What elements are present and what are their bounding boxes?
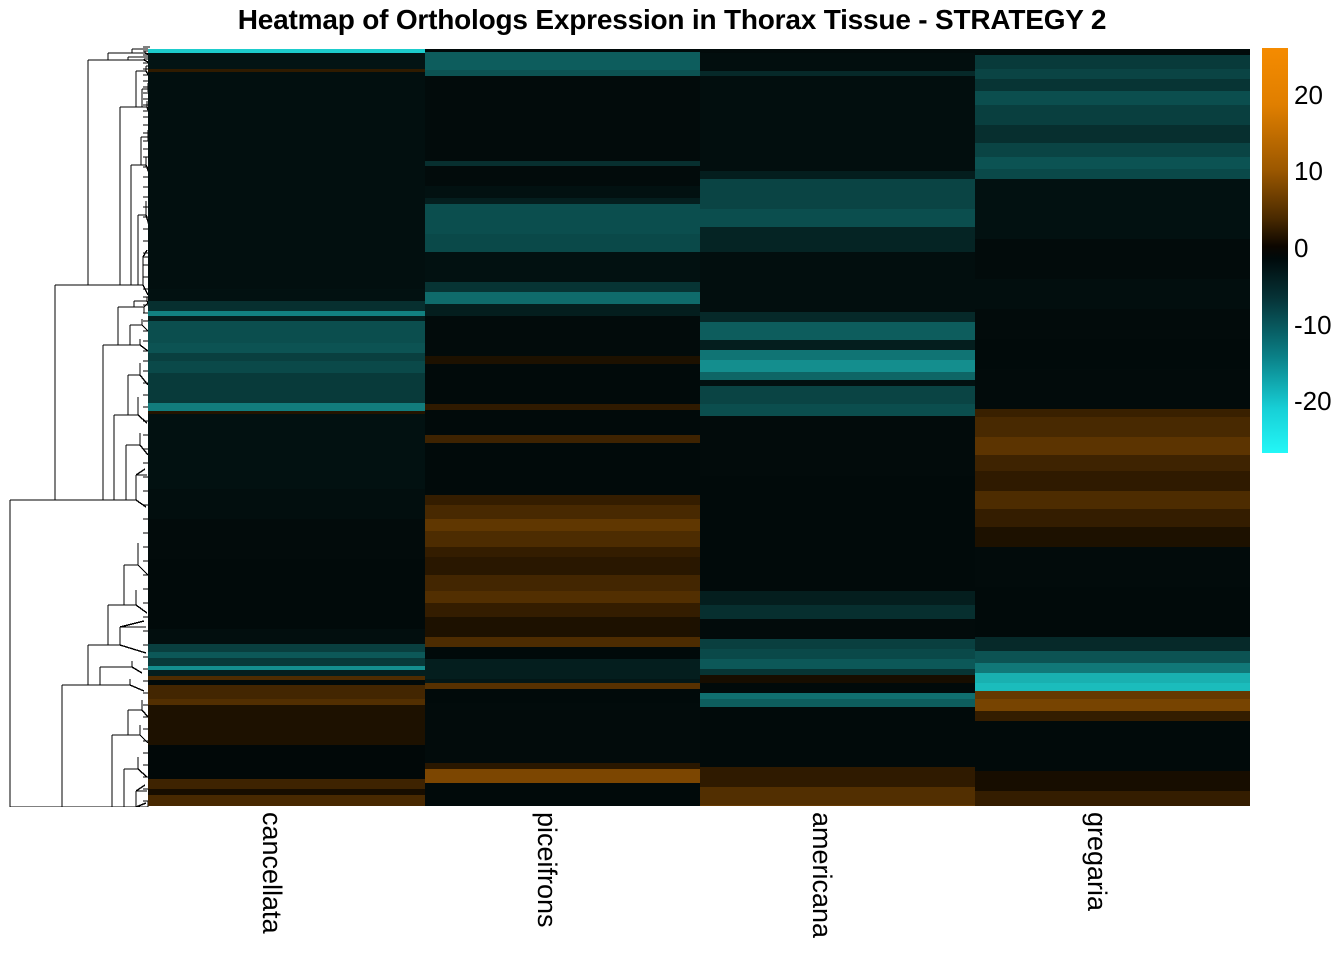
heatmap-band — [700, 649, 975, 659]
heatmap-band — [148, 761, 425, 779]
heatmap-band — [975, 721, 1250, 741]
heatmap-band — [700, 659, 975, 669]
heatmap-band — [975, 711, 1250, 721]
heatmap-band — [975, 339, 1250, 369]
heatmap-band — [425, 282, 700, 292]
heatmap-band — [425, 435, 700, 443]
heatmap-band — [148, 795, 425, 806]
heatmap-band — [700, 171, 975, 179]
heatmap-band — [975, 279, 1250, 309]
heatmap-band — [975, 369, 1250, 409]
heatmap-band — [975, 691, 1250, 699]
heatmap-band — [975, 637, 1250, 651]
heatmap-band — [700, 787, 975, 805]
colorbar-tick: 10 — [1294, 158, 1323, 184]
heatmap-band — [975, 509, 1250, 527]
heatmap-band — [975, 105, 1250, 125]
heatmap-band — [700, 591, 975, 605]
heatmap-band — [700, 372, 975, 380]
heatmap-band — [425, 637, 700, 647]
heatmap-band — [148, 519, 425, 559]
heatmap-column-piceifrons — [425, 49, 700, 806]
heatmap-band — [148, 53, 425, 69]
heatmap-band — [700, 360, 975, 372]
heatmap-band — [425, 547, 700, 557]
heatmap-band — [700, 322, 975, 340]
heatmap-band — [425, 443, 700, 463]
heatmap-band — [148, 414, 425, 489]
heatmap-band — [148, 321, 425, 343]
colorbar — [1262, 48, 1288, 453]
heatmap-band — [700, 805, 975, 806]
heatmap-band — [975, 143, 1250, 157]
heatmap-band — [148, 559, 425, 589]
heatmap-band — [975, 239, 1250, 279]
heatmap-band — [148, 685, 425, 699]
heatmap-band — [975, 791, 1250, 806]
heatmap-band — [975, 471, 1250, 491]
heatmap-band — [975, 179, 1250, 239]
heatmap-band — [700, 53, 975, 71]
heatmap-band — [148, 72, 425, 289]
heatmap-band — [700, 404, 975, 416]
heatmap-band — [425, 364, 700, 404]
heatmap-band — [700, 350, 975, 360]
heatmap-band — [425, 52, 700, 70]
heatmap-band — [700, 699, 975, 707]
colorbar-tick: 20 — [1294, 82, 1323, 108]
heatmap-band — [425, 689, 700, 703]
heatmap-band — [700, 416, 975, 476]
heatmap-band — [700, 209, 975, 227]
heatmap-column-gregaria — [975, 49, 1250, 806]
heatmap-band — [425, 575, 700, 591]
heatmap-band — [700, 227, 975, 252]
heatmap-band — [975, 169, 1250, 179]
heatmap-column-cancellata — [148, 49, 425, 806]
column-label: americana — [806, 812, 837, 938]
heatmap-band — [975, 587, 1250, 617]
heatmap-band — [700, 340, 975, 350]
heatmap-band — [975, 79, 1250, 91]
heatmap-band — [975, 527, 1250, 547]
heatmap-band — [425, 603, 700, 617]
heatmap-band — [148, 779, 425, 789]
heatmap-band — [425, 519, 700, 531]
heatmap-band — [975, 741, 1250, 771]
heatmap-band — [148, 361, 425, 373]
heatmap-band — [700, 675, 975, 683]
heatmap-band — [425, 292, 700, 304]
heatmap-band — [425, 76, 700, 161]
heatmap-band — [975, 309, 1250, 339]
heatmap-band — [700, 179, 975, 209]
heatmap-band — [700, 386, 975, 404]
page-title: Heatmap of Orthologs Expression in Thora… — [0, 4, 1344, 36]
heatmap-band — [975, 699, 1250, 711]
heatmap-band — [425, 703, 700, 763]
heatmap-band — [700, 476, 975, 506]
heatmap-band — [425, 659, 700, 679]
heatmap-band — [975, 651, 1250, 663]
heatmap-band — [975, 455, 1250, 471]
heatmap-band — [975, 547, 1250, 587]
heatmap-band — [148, 745, 425, 761]
heatmap-band — [148, 343, 425, 353]
heatmap-band — [148, 629, 425, 644]
heatmap-band — [700, 312, 975, 322]
heatmap-band — [700, 683, 975, 693]
heatmap-band — [975, 771, 1250, 791]
heatmap-band — [975, 55, 1250, 69]
heatmap-band — [425, 793, 700, 806]
heatmap-band — [148, 489, 425, 519]
heatmap-band — [700, 639, 975, 649]
heatmap-band — [148, 589, 425, 629]
heatmap-band — [425, 463, 700, 481]
row-dendrogram — [0, 45, 150, 807]
heatmap-band — [700, 707, 975, 767]
heatmap-band — [700, 619, 975, 639]
heatmap-band — [425, 505, 700, 519]
heatmap-band — [148, 301, 425, 311]
heatmap-band — [425, 186, 700, 198]
heatmap-band — [425, 316, 700, 356]
heatmap-band — [148, 658, 425, 666]
heatmap-figure: Heatmap of Orthologs Expression in Thora… — [0, 0, 1344, 960]
heatmap-band — [425, 783, 700, 793]
heatmap-band — [425, 647, 700, 659]
heatmap-band — [700, 536, 975, 571]
heatmap-band — [425, 531, 700, 547]
heatmap-band — [700, 506, 975, 536]
heatmap-band — [975, 491, 1250, 509]
heatmap-column-americana — [700, 49, 975, 806]
heatmap-band — [425, 252, 700, 282]
heatmap-band — [148, 705, 425, 745]
heatmap-band — [700, 605, 975, 619]
heatmap-band — [425, 495, 700, 505]
column-label: piceifrons — [531, 812, 562, 928]
heatmap-band — [700, 767, 975, 787]
heatmap-band — [148, 403, 425, 411]
heatmap-band — [148, 644, 425, 652]
heatmap-band — [975, 69, 1250, 79]
heatmap-band — [975, 663, 1250, 673]
heatmap-band — [425, 410, 700, 435]
column-label: cancellata — [256, 812, 287, 934]
heatmap-band — [425, 166, 700, 186]
heatmap-band — [975, 157, 1250, 169]
heatmap-band — [975, 437, 1250, 455]
heatmap-band — [425, 557, 700, 575]
heatmap-band — [148, 373, 425, 403]
heatmap-band — [700, 252, 975, 312]
heatmap-band — [700, 571, 975, 591]
heatmap-band — [975, 417, 1250, 437]
heatmap-band — [425, 617, 700, 637]
heatmap-band — [975, 683, 1250, 691]
heatmap-band — [425, 481, 700, 495]
heatmap-band — [700, 76, 975, 171]
heatmap-band — [975, 91, 1250, 105]
colorbar-tick: -10 — [1294, 312, 1332, 338]
colorbar-tick: 0 — [1294, 235, 1308, 261]
column-label: gregaria — [1081, 812, 1112, 911]
heatmap-band — [425, 356, 700, 364]
heatmap-band — [975, 673, 1250, 683]
heatmap-band — [425, 769, 700, 783]
heatmap-grid — [148, 49, 1250, 806]
heatmap-band — [425, 204, 700, 234]
heatmap-band — [425, 234, 700, 252]
heatmap-band — [425, 304, 700, 316]
heatmap-band — [975, 125, 1250, 143]
heatmap-band — [148, 289, 425, 301]
heatmap-band — [975, 617, 1250, 637]
colorbar-tick: -20 — [1294, 388, 1332, 414]
heatmap-band — [425, 591, 700, 603]
heatmap-band — [975, 409, 1250, 417]
heatmap-band — [148, 353, 425, 361]
